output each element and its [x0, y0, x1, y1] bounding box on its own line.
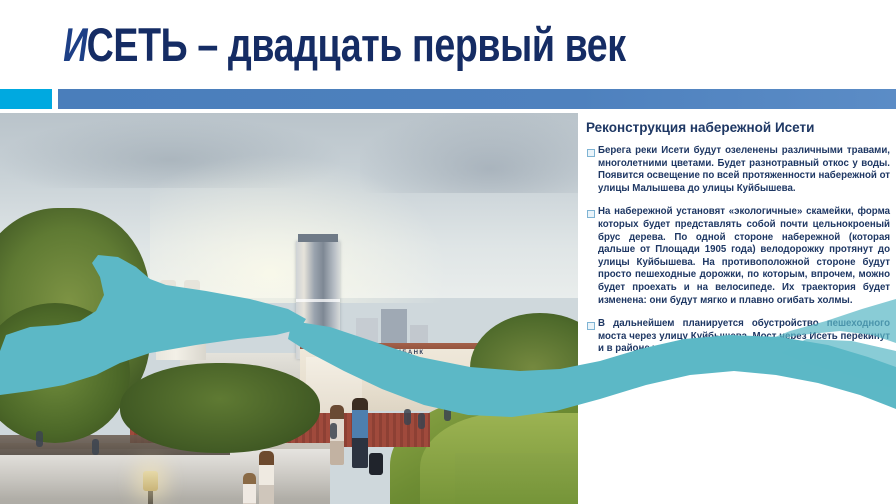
- twin-towers-building: [156, 298, 206, 360]
- square-bullet-icon: [582, 210, 598, 307]
- bank-sign-text: МЕТКОМБАНК: [368, 350, 424, 356]
- list-item-text: Берега реки Исети будут озеленены различ…: [598, 145, 894, 195]
- tree-middle: [120, 363, 320, 453]
- person-child: [243, 473, 256, 504]
- bullet-list: Берега реки Исети будут озеленены различ…: [582, 145, 894, 367]
- bank-window: [452, 375, 457, 386]
- list-item: В дальнейшем планируется обустройство пе…: [582, 318, 894, 356]
- person-distant: [444, 405, 451, 421]
- handbag: [369, 453, 383, 475]
- accent-bar-cyan: [0, 89, 52, 109]
- logo-letter-i: И: [63, 16, 85, 74]
- bank-window: [404, 375, 409, 386]
- panel-heading: Реконструкция набережной Исети: [586, 119, 886, 136]
- bank-window: [440, 375, 445, 386]
- accent-bar-blue: [58, 89, 896, 109]
- person-distant: [486, 395, 493, 411]
- bank-window: [392, 375, 397, 386]
- person-distant: [404, 409, 411, 425]
- page-title-text: СЕТЬ – двадцать первый век: [87, 18, 626, 71]
- twin-turret-left: [160, 280, 176, 300]
- embankment-photo: МЕТКОМБАНК: [0, 113, 578, 504]
- list-item-text: На набережной установят «экологичные» ск…: [598, 206, 894, 307]
- person-distant: [466, 399, 473, 415]
- list-item-text: В дальнейшем планируется обустройство пе…: [598, 318, 894, 356]
- grass-verge: [455, 453, 578, 504]
- bank-window: [416, 375, 421, 386]
- person-distant: [330, 423, 337, 439]
- page-title: ИСЕТЬ – двадцать первый век: [62, 16, 626, 74]
- slide-canvas: ИСЕТЬ – двадцать первый век МЕТКОМБАНК: [0, 0, 896, 504]
- list-item: Берега реки Исети будут озеленены различ…: [582, 145, 894, 195]
- text-panel: Реконструкция набережной Исети Берега ре…: [578, 113, 896, 504]
- list-item: На набережной установят «экологичные» ск…: [582, 206, 894, 307]
- water-reflection: [0, 449, 330, 499]
- twin-turret-right: [184, 280, 200, 300]
- person-distant: [418, 413, 425, 429]
- person-distant: [36, 431, 43, 447]
- person-couple-man: [352, 398, 368, 468]
- vysotsky-tower: [296, 241, 340, 359]
- lamp-head: [143, 471, 158, 491]
- person-distant: [92, 439, 99, 455]
- person-woman: [259, 451, 274, 504]
- square-bullet-icon: [582, 149, 598, 195]
- square-bullet-icon: [582, 322, 598, 356]
- bank-window: [428, 375, 433, 386]
